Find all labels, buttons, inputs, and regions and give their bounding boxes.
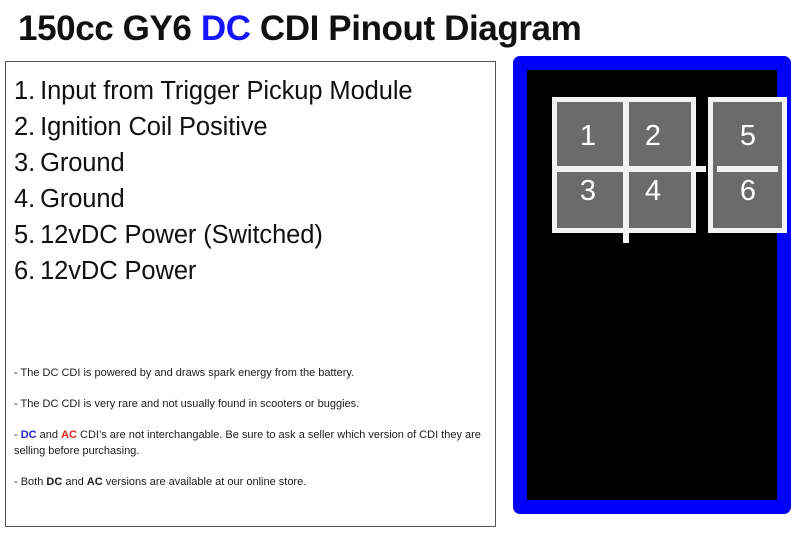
note-dc-tag: DC [46,476,62,488]
pinout-info-panel: 1.Input from Trigger Pickup Module 2.Ign… [5,61,496,527]
pin-number: 3. [14,149,35,177]
pin-number: 4. [14,185,35,213]
pad-pin-6: 6 [731,177,765,206]
pad-pin-3: 3 [571,177,605,206]
note-rest: CDI’s are not interchangable. Be sure to… [14,429,481,457]
connector-pad-right: 5 6 [708,97,787,233]
page-title: 150cc GY6 DC CDI Pinout Diagram [18,6,778,54]
list-item: 2.Ignition Coil Positive [14,109,492,145]
list-item: 5.12vDC Power (Switched) [14,217,492,253]
connector-pad-left: 1 2 3 4 [552,97,696,233]
note-lead: - Both [14,476,46,488]
pad-pin-1: 1 [571,122,605,151]
list-item: 4.Ground [14,181,492,217]
list-item: 3.Ground [14,145,492,181]
note-rest: versions are available at our online sto… [103,476,307,488]
note-lead: - [14,429,21,441]
page-title-after: CDI Pinout Diagram [251,9,582,48]
pin-label: Ignition Coil Positive [40,113,267,141]
note-line: - Both DC and AC versions are available … [14,474,484,490]
note-line: - DC and AC CDI’s are not interchangable… [14,427,484,459]
pin-label: Ground [40,149,124,177]
pad-pin-4: 4 [636,177,670,206]
pad-pin-5: 5 [731,122,765,151]
note-line: - The DC CDI is very rare and not usuall… [14,396,484,412]
pin-function-list: 1.Input from Trigger Pickup Module 2.Ign… [14,73,492,289]
pin-label: Input from Trigger Pickup Module [40,77,412,105]
list-item: 6.12vDC Power [14,253,492,289]
pad-pin-2: 2 [636,122,670,151]
connector-housing: 1 2 3 4 5 6 [513,56,791,514]
note-dc-tag: DC [21,429,37,441]
pin-number: 5. [14,221,35,249]
pin-label: Ground [40,185,124,213]
pin-number: 2. [14,113,35,141]
note-line: - The DC CDI is powered by and draws spa… [14,365,484,381]
note-mid: and [62,476,86,488]
cdi-connector-diagram: 1 2 3 4 5 6 [513,56,791,514]
pad-horizontal-divider [717,166,778,172]
pad-horizontal-divider [552,166,706,172]
pin-label: 12vDC Power (Switched) [40,221,323,249]
pin-number: 1. [14,77,35,105]
page-title-dc-accent: DC [201,9,251,48]
note-ac-tag: AC [87,476,103,488]
note-mid: and [37,429,61,441]
page-title-before: 150cc GY6 [18,9,201,48]
list-item: 1.Input from Trigger Pickup Module [14,73,492,109]
notes-block: - The DC CDI is powered by and draws spa… [14,365,484,490]
pin-label: 12vDC Power [40,257,196,285]
pin-number: 6. [14,257,35,285]
note-ac-tag: AC [61,429,77,441]
